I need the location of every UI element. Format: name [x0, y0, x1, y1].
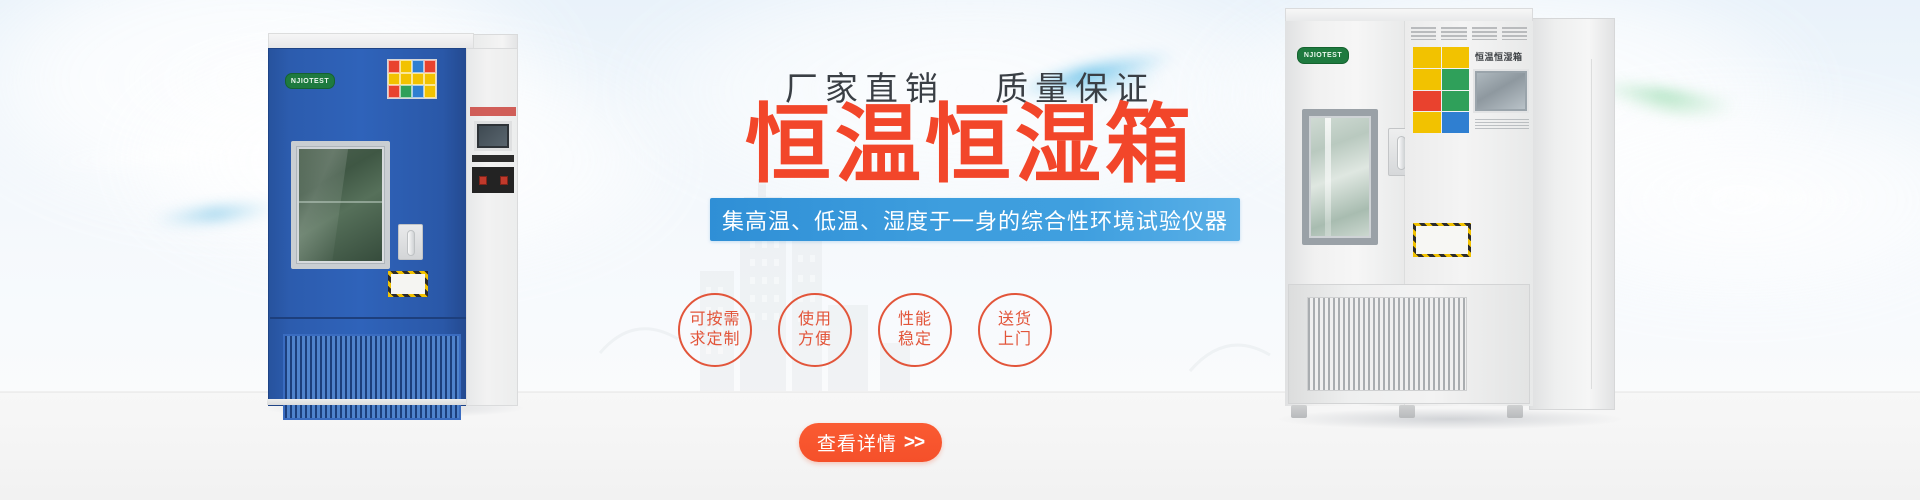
green-streak — [1620, 97, 1730, 118]
cabinet-base — [267, 399, 479, 405]
feature-badge-row: 可按需 求定制 使用 方便 性能 稳定 送货 上门 — [678, 282, 1278, 378]
controller-display — [474, 121, 512, 151]
product-banner: NJIOTEST — [0, 0, 1920, 500]
badge-line-2: 方便 — [798, 330, 832, 350]
view-details-button[interactable]: 查看详情 >> — [799, 423, 942, 462]
brand-logo-badge: NJIOTEST — [285, 73, 335, 89]
badge-line-2: 稳定 — [898, 330, 932, 350]
warning-sticker-grid — [1413, 47, 1469, 133]
cabinet-top — [268, 33, 474, 49]
body-seam — [270, 317, 474, 319]
subtitle-text: 集高温、低温、湿度于一身的综合性环境试验仪器 — [722, 204, 1228, 236]
white-streak — [1640, 180, 1880, 211]
chamber-left-blue: NJIOTEST — [268, 33, 518, 408]
control-buttons[interactable] — [472, 167, 514, 193]
hazard-label-plate — [1413, 223, 1471, 257]
lower-ventilation-grille — [283, 334, 461, 420]
badge-line-1: 送货 — [998, 310, 1032, 330]
control-panel-title: 恒温恒湿箱 — [1475, 51, 1531, 63]
hazard-label-plate — [388, 271, 428, 297]
control-panel-title-plate — [470, 107, 516, 116]
control-panel-column — [466, 48, 518, 406]
banner-copy-block: 厂家直销 质量保证 恒温恒湿箱 集高温、低温、湿度于一身的综合性环境试验仪器 可… — [600, 0, 1340, 500]
manufacturer-text-plate — [1475, 119, 1529, 129]
controller-display — [1473, 69, 1529, 113]
cta-label: 查看详情 — [817, 429, 897, 456]
viewing-window — [291, 141, 390, 269]
badge-line-2: 求定制 — [689, 330, 740, 350]
panel-strip — [472, 155, 514, 162]
subtitle-bar: 集高温、低温、湿度于一身的综合性环境试验仪器 — [710, 198, 1240, 241]
cabinet-side-panel — [1529, 18, 1615, 410]
window-glass — [299, 149, 382, 261]
badge-line-2: 上门 — [998, 330, 1032, 350]
feature-badge-delivery[interactable]: 送货 上门 — [978, 293, 1052, 367]
badge-line-1: 性能 — [898, 310, 932, 330]
warning-sticker-grid — [387, 59, 437, 99]
cabinet-front-blue: NJIOTEST — [268, 48, 474, 406]
top-vent-slots — [1411, 27, 1527, 43]
banner-headline: 恒温恒湿箱 — [600, 97, 1340, 193]
blue-streak — [150, 201, 281, 227]
indicator-light — [479, 176, 487, 185]
badge-line-1: 使用 — [798, 310, 832, 330]
white-streak — [40, 141, 300, 169]
glass-reflection — [299, 149, 353, 261]
feature-badge-stable[interactable]: 性能 稳定 — [878, 293, 952, 367]
feature-badge-easy-use[interactable]: 使用 方便 — [778, 293, 852, 367]
panel-seam — [1591, 59, 1592, 389]
door-handle — [398, 224, 423, 260]
badge-line-1: 可按需 — [689, 310, 740, 330]
feature-badge-custom[interactable]: 可按需 求定制 — [678, 293, 752, 367]
indicator-light — [500, 176, 508, 185]
chevron-right-icon: >> — [904, 432, 924, 454]
